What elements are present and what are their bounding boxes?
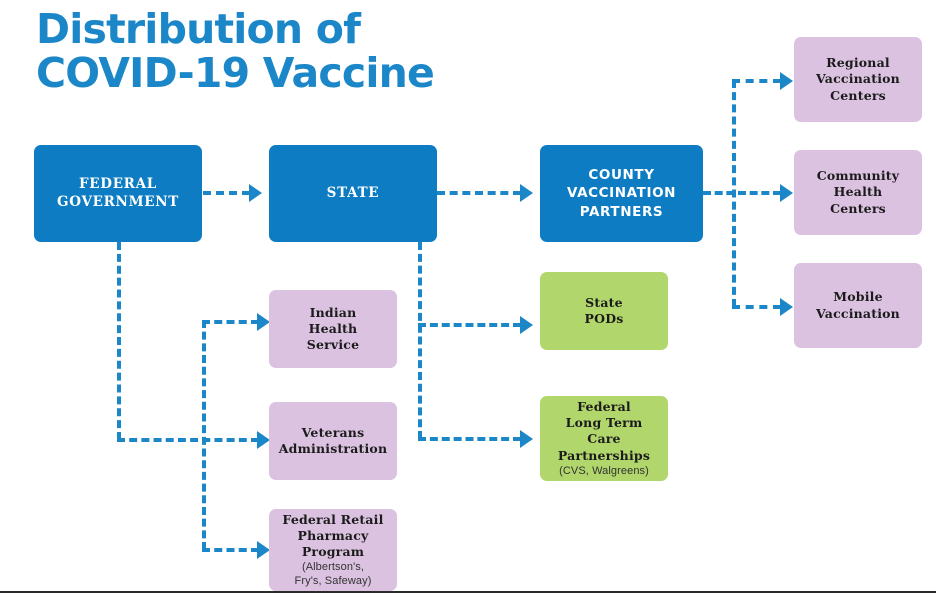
node-veterans-administration-label: Veterans Administration	[279, 425, 388, 458]
node-regional-vaccination-centers[interactable]: Regional Vaccination Centers	[794, 37, 922, 122]
node-state[interactable]: STATE	[269, 145, 437, 242]
page-title: Distribution of COVID-19 Vaccine	[36, 8, 596, 96]
node-federal-government-label: FEDERAL GOVERNMENT	[57, 176, 179, 212]
arrowhead-to-state-pods	[520, 316, 533, 334]
connector-state-trunk	[418, 242, 422, 439]
arrowhead-hub-to-mobile	[780, 298, 793, 316]
connector-state-to-county	[437, 191, 521, 195]
node-county-vaccination-partners[interactable]: COUNTY VACCINATION PARTNERS	[540, 145, 703, 242]
node-federal-retail-pharmacy-program-label: Federal Retail Pharmacy Program	[273, 512, 393, 561]
arrowhead-state-to-county	[520, 184, 533, 202]
connector-hub-to-mobile	[732, 305, 781, 309]
node-federal-government[interactable]: FEDERAL GOVERNMENT	[34, 145, 202, 242]
connector-federal-trunk-bottom	[117, 438, 259, 442]
connector-to-federal-retail-pharmacy	[202, 548, 259, 552]
arrowhead-hub-to-community	[780, 184, 793, 202]
connector-hub-to-regional	[732, 79, 781, 83]
connector-federal-to-state	[203, 191, 250, 195]
node-county-vaccination-partners-label: COUNTY VACCINATION PARTNERS	[567, 166, 676, 220]
node-federal-long-term-care-partnerships[interactable]: Federal Long Term Care Partnerships (CVS…	[540, 396, 668, 481]
diagram-canvas: Distribution of COVID-19 Vaccine FEDERAL…	[0, 0, 936, 604]
node-community-health-centers[interactable]: Community Health Centers	[794, 150, 922, 235]
node-state-pods-label: State PODs	[585, 295, 624, 328]
arrowhead-federal-to-state	[249, 184, 262, 202]
node-mobile-vaccination-label: Mobile Vaccination	[816, 289, 900, 322]
connector-to-federal-ltc	[418, 437, 521, 441]
node-community-health-centers-label: Community Health Centers	[817, 168, 900, 217]
node-indian-health-service[interactable]: Indian Health Service	[269, 290, 397, 368]
arrowhead-to-federal-ltc	[520, 430, 533, 448]
node-indian-health-service-label: Indian Health Service	[307, 305, 360, 354]
node-state-label: STATE	[327, 185, 380, 203]
connector-federal-secondary-trunk	[202, 320, 206, 550]
arrowhead-hub-to-regional	[780, 72, 793, 90]
bottom-divider	[0, 591, 936, 593]
node-state-pods[interactable]: State PODs	[540, 272, 668, 350]
node-federal-long-term-care-partnerships-label: Federal Long Term Care Partnerships	[544, 399, 664, 464]
node-federal-long-term-care-partnerships-sublabel: (CVS, Walgreens)	[559, 465, 649, 478]
connector-county-hub	[703, 191, 781, 195]
node-mobile-vaccination[interactable]: Mobile Vaccination	[794, 263, 922, 348]
connector-hub-vertical	[732, 80, 736, 307]
connector-to-indian-health-service	[202, 320, 259, 324]
connector-federal-trunk	[117, 242, 121, 440]
node-federal-retail-pharmacy-program[interactable]: Federal Retail Pharmacy Program (Alberts…	[269, 509, 397, 591]
connector-to-state-pods	[418, 323, 521, 327]
node-federal-retail-pharmacy-program-sublabel: (Albertson's, Fry's, Safeway)	[295, 561, 372, 588]
node-regional-vaccination-centers-label: Regional Vaccination Centers	[816, 55, 900, 104]
node-veterans-administration[interactable]: Veterans Administration	[269, 402, 397, 480]
